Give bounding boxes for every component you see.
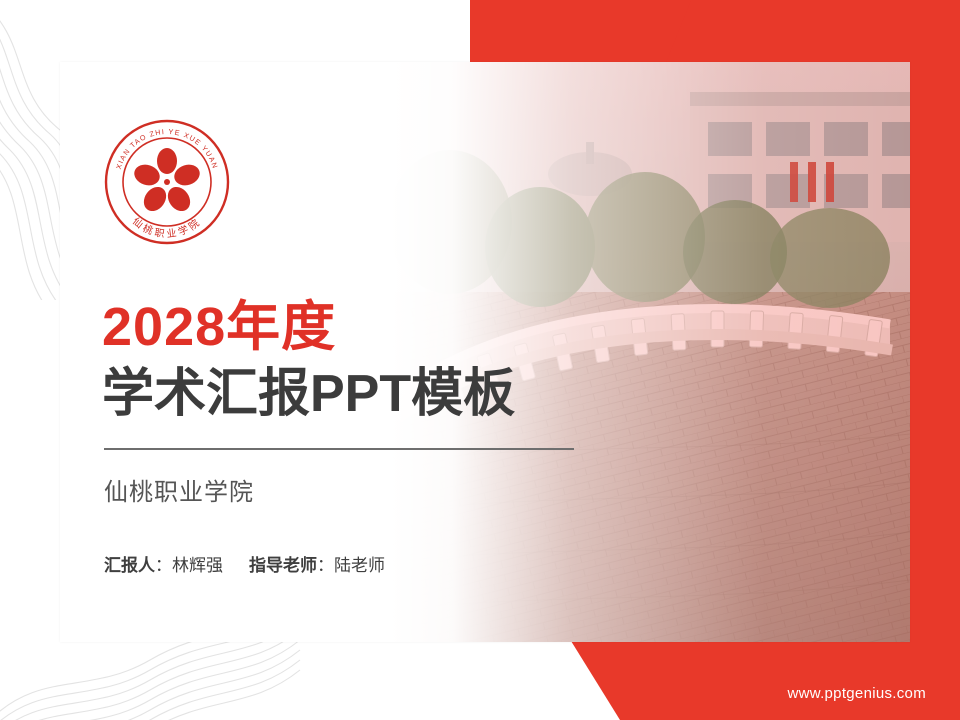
school-name: 仙桃职业学院	[104, 472, 574, 507]
advisor-label: 指导老师	[249, 556, 317, 575]
advisor-name: 陆老师	[334, 556, 385, 575]
presentation-slide: XIAN TAO ZHI YE XUE YUAN 仙桃职业学院 2028年度 学…	[0, 0, 960, 720]
title-block: 2028年度 学术汇报PPT模板 仙桃职业学院 汇报人：林辉强指导老师：陆老师	[102, 297, 574, 576]
title-main: 学术汇报PPT模板	[102, 363, 574, 425]
advisor-separator: ：	[317, 556, 334, 575]
presenter-name: 林辉强	[172, 556, 223, 575]
university-logo: XIAN TAO ZHI YE XUE YUAN 仙桃职业学院	[102, 117, 232, 247]
presenter-label: 汇报人	[104, 556, 155, 575]
presenter-separator: ：	[155, 556, 172, 575]
presenter-meta: 汇报人：林辉强指导老师：陆老师	[104, 551, 574, 576]
title-divider	[104, 448, 574, 450]
title-year: 2028年度	[102, 297, 574, 357]
content-card: XIAN TAO ZHI YE XUE YUAN 仙桃职业学院 2028年度 学…	[60, 62, 910, 642]
footer-website-url: www.pptgenius.com	[788, 685, 927, 702]
